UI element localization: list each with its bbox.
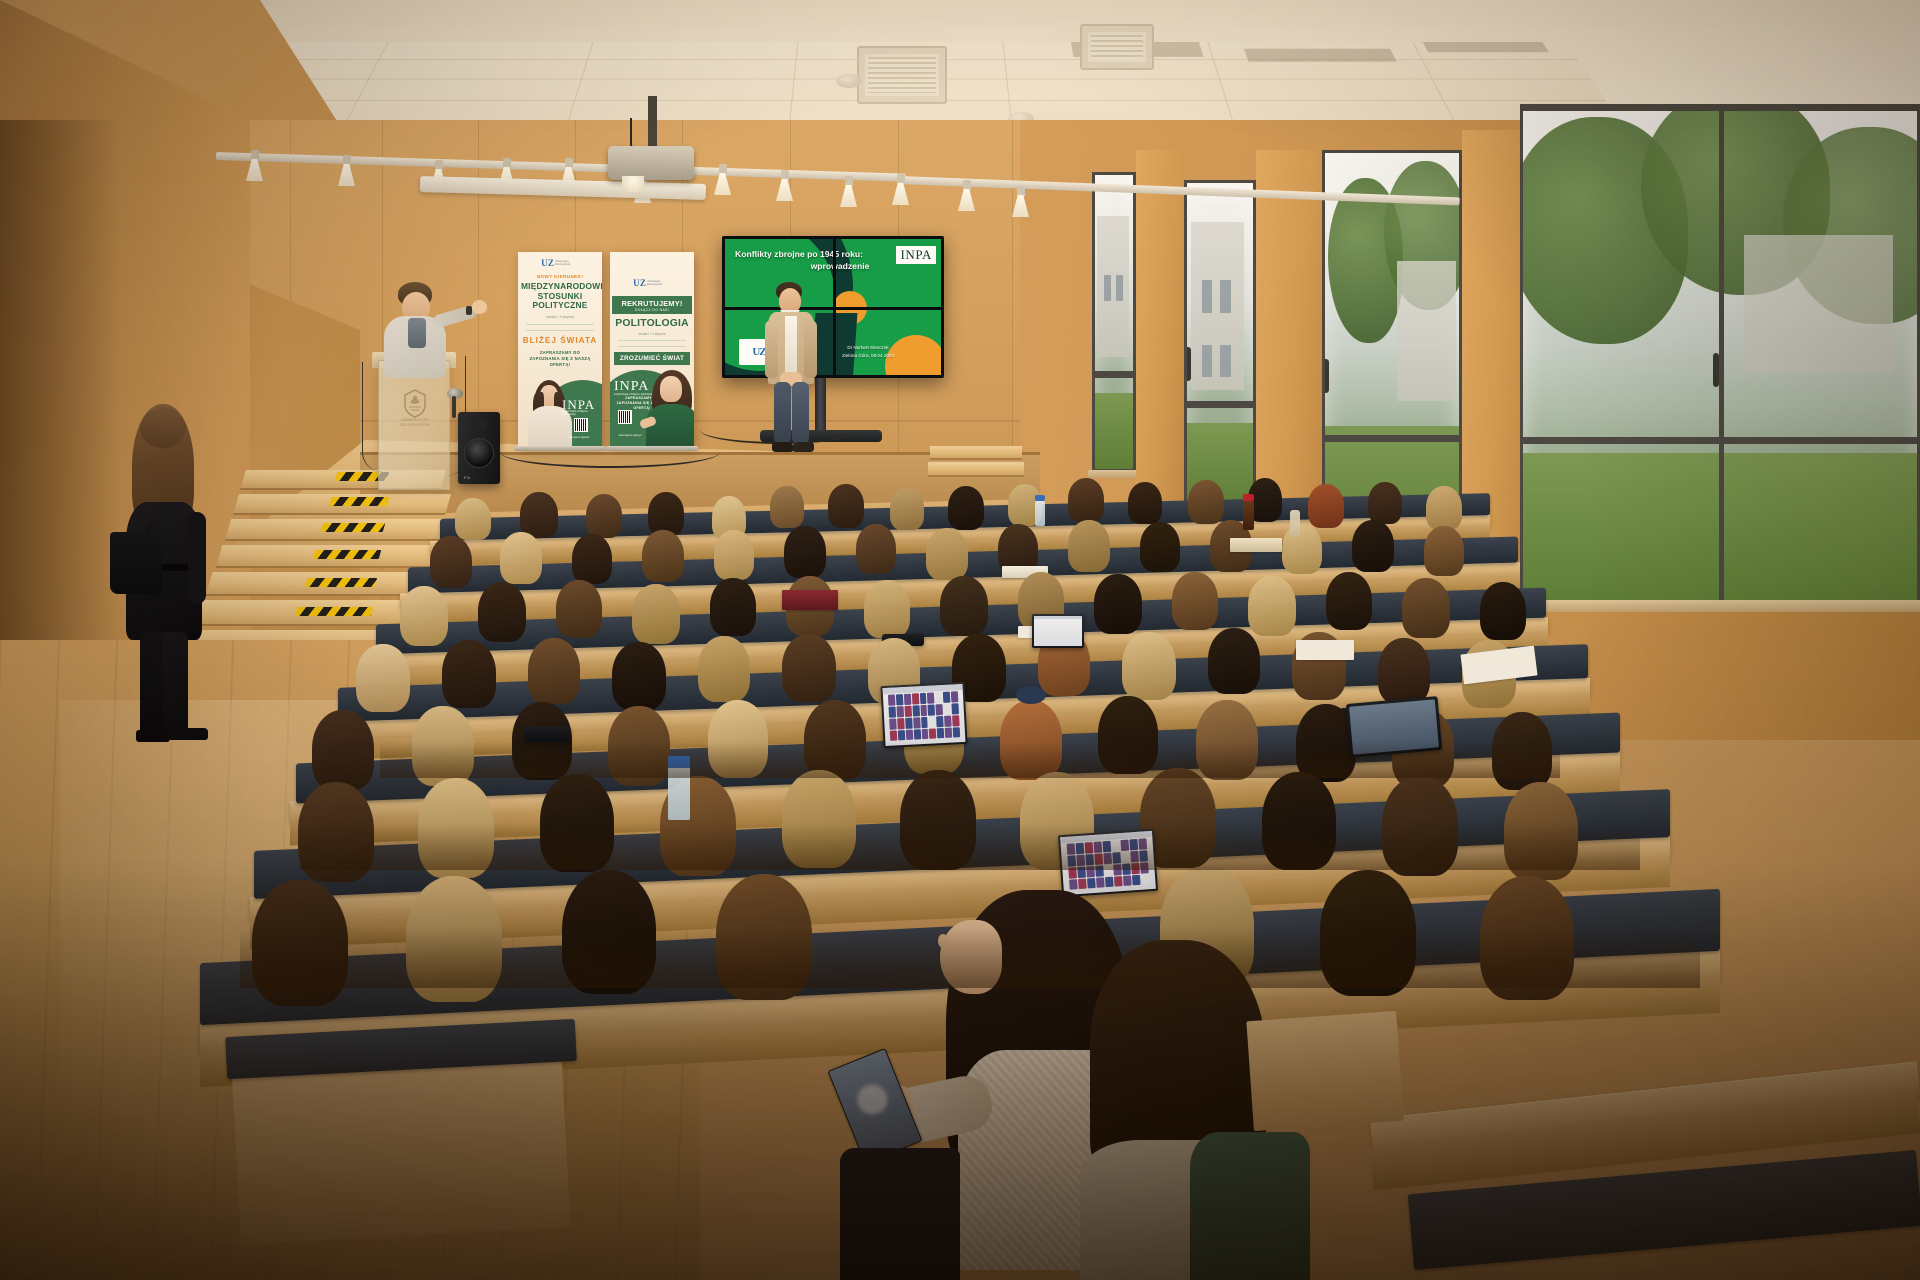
paper-sheet (1296, 640, 1354, 660)
window (1092, 172, 1136, 472)
window (1520, 104, 1920, 604)
ceiling-projector (608, 146, 694, 180)
laptop[interactable] (880, 682, 967, 748)
banner-cta: ZAPRASZAMY DO ZAPOZNANIA SIĘ Z NASZĄ OFE… (518, 350, 602, 368)
notebook (782, 590, 838, 610)
spotlight (246, 150, 263, 180)
stage-speaker (762, 282, 822, 458)
banner-institute: INPA Instytut Nauk o Polityce i Administ… (614, 380, 654, 397)
stage-step (928, 462, 1024, 477)
leg (162, 632, 188, 736)
handbag (110, 532, 162, 594)
banner-tagline: BLIŻEJ ŚWIATA (518, 336, 602, 345)
tablet (524, 726, 570, 742)
hazard-stripe (295, 607, 374, 616)
hazard-stripe (305, 578, 378, 587)
slide-title: Konflikty zbrojne po 1945 roku: wprowadz… (735, 249, 919, 273)
ac-vent (857, 46, 947, 104)
notebook (1230, 538, 1282, 552)
row-shadow (380, 742, 1560, 778)
window-sill (1088, 470, 1140, 478)
spotlight (892, 174, 909, 204)
spotlight (338, 155, 355, 185)
hazard-stripe (321, 523, 386, 532)
backpack (840, 1148, 960, 1280)
recruitment-ribbon: REKRUTUJEMY! DOŁĄCZ DO NAS! (612, 296, 692, 314)
qr-code (618, 410, 632, 424)
banner-photo: INPA Instytut Nauk o Polityce i Administ… (518, 376, 602, 448)
window-sill (1510, 600, 1920, 612)
seat-panel (1246, 1011, 1403, 1131)
uz-logo: U ZUniwersytet Zielonogórski (541, 258, 579, 268)
banner-stand (514, 446, 606, 451)
banner-heading: POLITOLOGIA (610, 318, 694, 330)
rollup-banner-politologia: U ZUniwersytet Zielonogórski REKRUTUJEMY… (610, 252, 694, 448)
banner-footer: www.inpa.uz.zgora.pl (518, 436, 602, 439)
water-bottle (1290, 510, 1300, 536)
banner-tagline-ribbon: ZROZUMIEĆ ŚWIAT (614, 352, 690, 365)
banner-institute: INPA Instytut Nauk o Polityce i Administ… (562, 398, 602, 417)
seat-panel (232, 1047, 571, 1244)
water-bottle (1035, 500, 1045, 526)
rollup-banner-msp: U ZUniwersytet Zielonogórski NOWY KIERUN… (518, 252, 602, 448)
wall-pier (1136, 150, 1184, 520)
ac-vent (1080, 24, 1154, 70)
lectern-microphone-boom (362, 362, 388, 472)
video-wall: Konflikty zbrojne po 1945 roku: wprowadz… (722, 236, 944, 378)
uz-logo: U ZUniwersytet Zielonogórski (633, 278, 671, 288)
spotlight (776, 170, 793, 200)
standing-woman (110, 404, 222, 760)
lecture-hall-photograph: U ZUniwersytet Zielonogórski NOWY KIERUN… (0, 0, 1920, 1280)
laptop[interactable] (1032, 614, 1084, 648)
microphone-stand (452, 396, 456, 418)
banner-subheading: studia I i II stopnia (518, 315, 602, 319)
laptop-icon-grid (888, 691, 961, 741)
row-shadow (240, 928, 1700, 988)
leg (792, 382, 809, 444)
bottle-cap (1035, 495, 1045, 501)
hazard-stripe (329, 497, 390, 506)
inpa-logo: INPA (896, 246, 936, 266)
banner-kicker: NOWY KIERUNEK! (518, 274, 602, 279)
banner-subheading: studia I i II stopnia (610, 332, 694, 336)
ceiling-speaker-icon (836, 74, 862, 88)
leg (774, 382, 791, 444)
row-shadow (300, 824, 1640, 870)
hazard-stripe (313, 550, 382, 559)
hair-bow (1016, 686, 1046, 704)
banner-photo: INPA Instytut Nauk o Polityce i Administ… (610, 370, 694, 448)
lectern-crest-caption: UNIWERSYTETZIELONOGÓRSKI (384, 418, 446, 428)
banner-stand (606, 446, 698, 451)
soda-bottle (1243, 500, 1254, 530)
pa-speaker: PA (458, 412, 500, 484)
window (1184, 180, 1256, 510)
spotlight (840, 176, 857, 206)
slide-byline: Dr Norbert Slenczok Zielona Góra, 08.04.… (813, 344, 923, 360)
university-crest-icon (398, 388, 432, 418)
spotlight (1012, 186, 1029, 216)
stage-step (930, 446, 1022, 460)
banner-heading: MIĘDZYNARODOWE STOSUNKI POLITYCZNE (518, 282, 602, 311)
spotlight (958, 180, 975, 210)
bottle-cap (1243, 494, 1254, 501)
smartphone[interactable] (828, 1048, 923, 1164)
lectern-speaker (382, 282, 492, 378)
spotlight (714, 164, 731, 194)
banner-footer: www.inpa.uz.zgora.pl (610, 434, 694, 437)
qr-code (574, 418, 588, 432)
